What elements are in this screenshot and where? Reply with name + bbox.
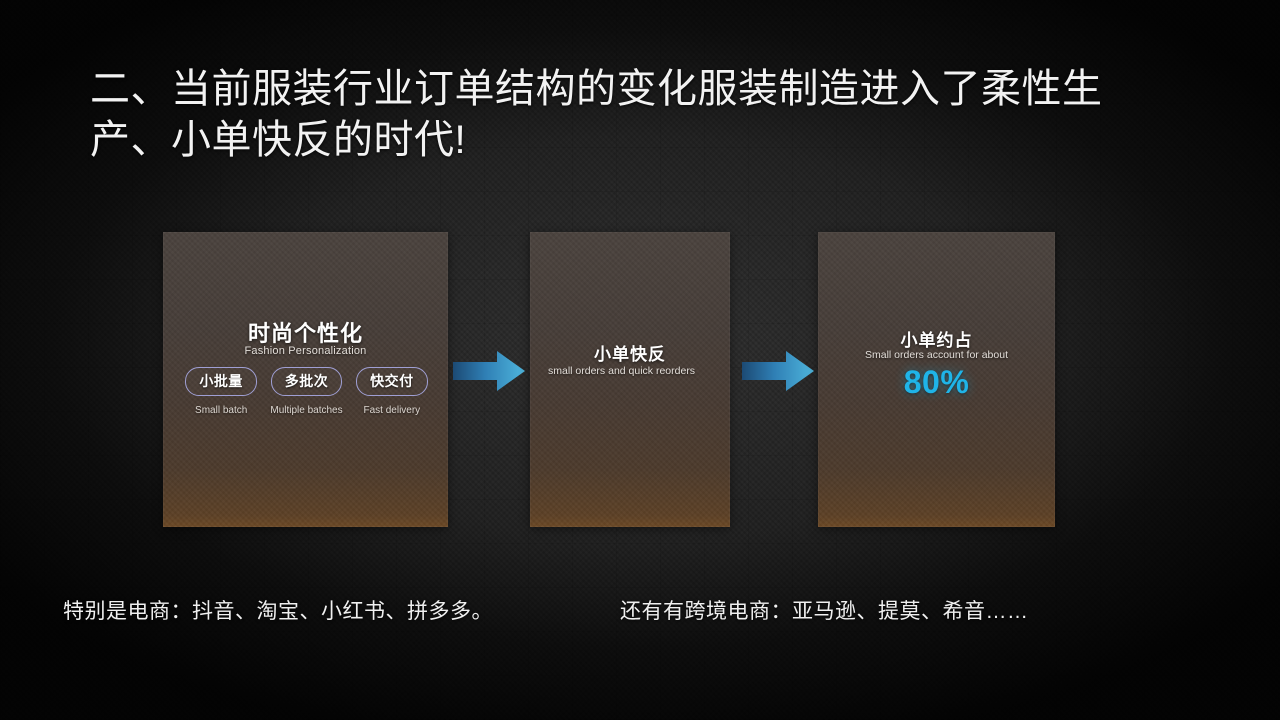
flow-card-small-orders-quick-reorders: 小单快反 small orders and quick reorders bbox=[530, 232, 730, 527]
pill-small-batch[interactable]: 小批量 bbox=[185, 367, 257, 396]
presentation-slide: 二、当前服装行业订单结构的变化服装制造进入了柔性生产、小单快反的时代! 时尚个性… bbox=[0, 0, 1280, 720]
card-content: 时尚个性化 Fashion Personalization 小批量 Small … bbox=[163, 232, 448, 527]
pill-multiple-batches-label-en: Multiple batches bbox=[266, 405, 346, 417]
footer-caption-cross-border-ecommerce: 还有有跨境电商：亚马逊、提莫、希音…… bbox=[620, 595, 1029, 625]
pill-small-batch-label-en: Small batch bbox=[181, 405, 261, 417]
card-heading-cn: 小单快反 bbox=[530, 340, 730, 365]
card-subheading-en: Fashion Personalization bbox=[163, 345, 448, 357]
statistic-percentage: 80% bbox=[818, 364, 1055, 401]
pill-fast-delivery[interactable]: 快交付 bbox=[356, 367, 428, 396]
card-content: 小单约占 Small orders account for about 80% bbox=[818, 232, 1055, 527]
footer-caption-domestic-ecommerce: 特别是电商：抖音、淘宝、小红书、拼多多。 bbox=[63, 595, 493, 625]
attribute-pill-group: 小批量 Small batch bbox=[181, 367, 261, 417]
flow-card-fashion-personalization: 时尚个性化 Fashion Personalization 小批量 Small … bbox=[163, 232, 448, 527]
card-heading-cn: 小单约占 bbox=[818, 326, 1055, 351]
arrow-right-icon bbox=[453, 348, 525, 394]
card-content: 小单快反 small orders and quick reorders bbox=[530, 232, 730, 527]
attribute-pill-row: 小批量 Small batch 多批次 Multiple batches 快交付… bbox=[181, 367, 432, 417]
flow-card-small-order-share: 小单约占 Small orders account for about 80% bbox=[818, 232, 1055, 527]
card-subheading-en: small orders and quick reorders bbox=[548, 365, 712, 379]
card-subheading-en: Small orders account for about bbox=[818, 349, 1055, 361]
pill-multiple-batches[interactable]: 多批次 bbox=[271, 367, 343, 396]
attribute-pill-group: 快交付 Fast delivery bbox=[352, 367, 432, 417]
arrow-right-icon bbox=[742, 348, 814, 394]
card-heading-cn: 时尚个性化 bbox=[163, 316, 448, 348]
slide-title: 二、当前服装行业订单结构的变化服装制造进入了柔性生产、小单快反的时代! bbox=[90, 64, 1180, 166]
attribute-pill-group: 多批次 Multiple batches bbox=[266, 367, 346, 417]
pill-fast-delivery-label-en: Fast delivery bbox=[352, 405, 432, 417]
